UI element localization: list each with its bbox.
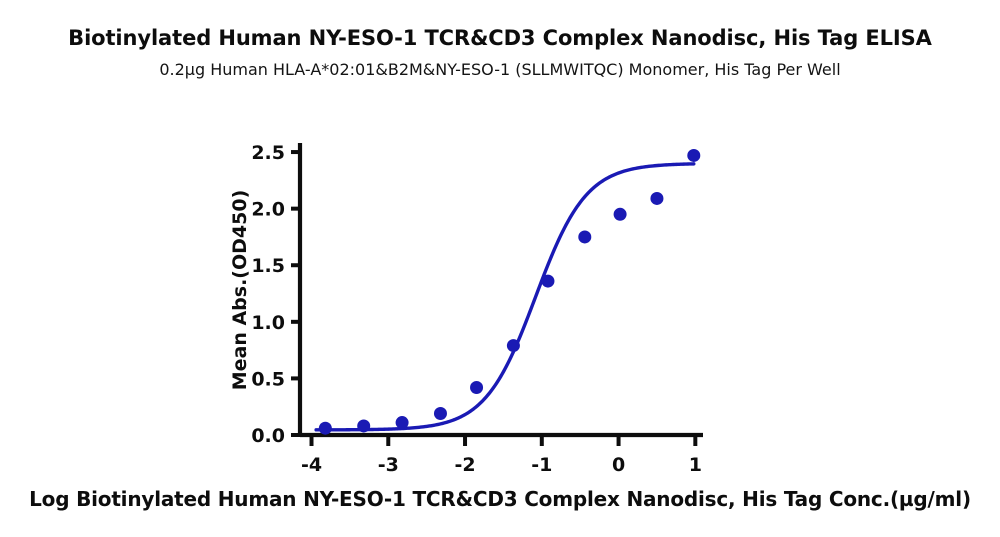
data-point	[396, 416, 409, 429]
y-tick-label: 1.5	[251, 255, 285, 277]
x-tick-label: 1	[689, 454, 702, 476]
fit-curve	[316, 164, 694, 430]
data-point	[470, 381, 483, 394]
data-point	[578, 230, 591, 243]
data-point	[541, 275, 554, 288]
data-point	[650, 192, 663, 205]
elisa-figure: Biotinylated Human NY-ESO-1 TCR&CD3 Comp…	[0, 0, 1000, 537]
data-point	[614, 208, 627, 221]
plot-area: 0.00.51.01.52.02.5-4-3-2-101	[0, 0, 1000, 537]
y-tick-label: 0.5	[251, 368, 285, 390]
x-axis-title: Log Biotinylated Human NY-ESO-1 TCR&CD3 …	[0, 487, 1000, 511]
data-point	[507, 339, 520, 352]
data-point	[319, 422, 332, 435]
data-point	[434, 407, 447, 420]
y-tick-label: 0.0	[251, 425, 285, 447]
x-tick-label: 0	[612, 454, 625, 476]
data-point	[357, 419, 370, 432]
x-tick-label: -1	[531, 454, 552, 476]
y-tick-label: 1.0	[251, 312, 285, 334]
y-tick-label: 2.0	[251, 199, 285, 221]
x-tick-label: -2	[454, 454, 475, 476]
data-point	[687, 149, 700, 162]
x-tick-label: -3	[378, 454, 399, 476]
y-tick-label: 2.5	[251, 142, 285, 164]
x-tick-label: -4	[301, 454, 322, 476]
